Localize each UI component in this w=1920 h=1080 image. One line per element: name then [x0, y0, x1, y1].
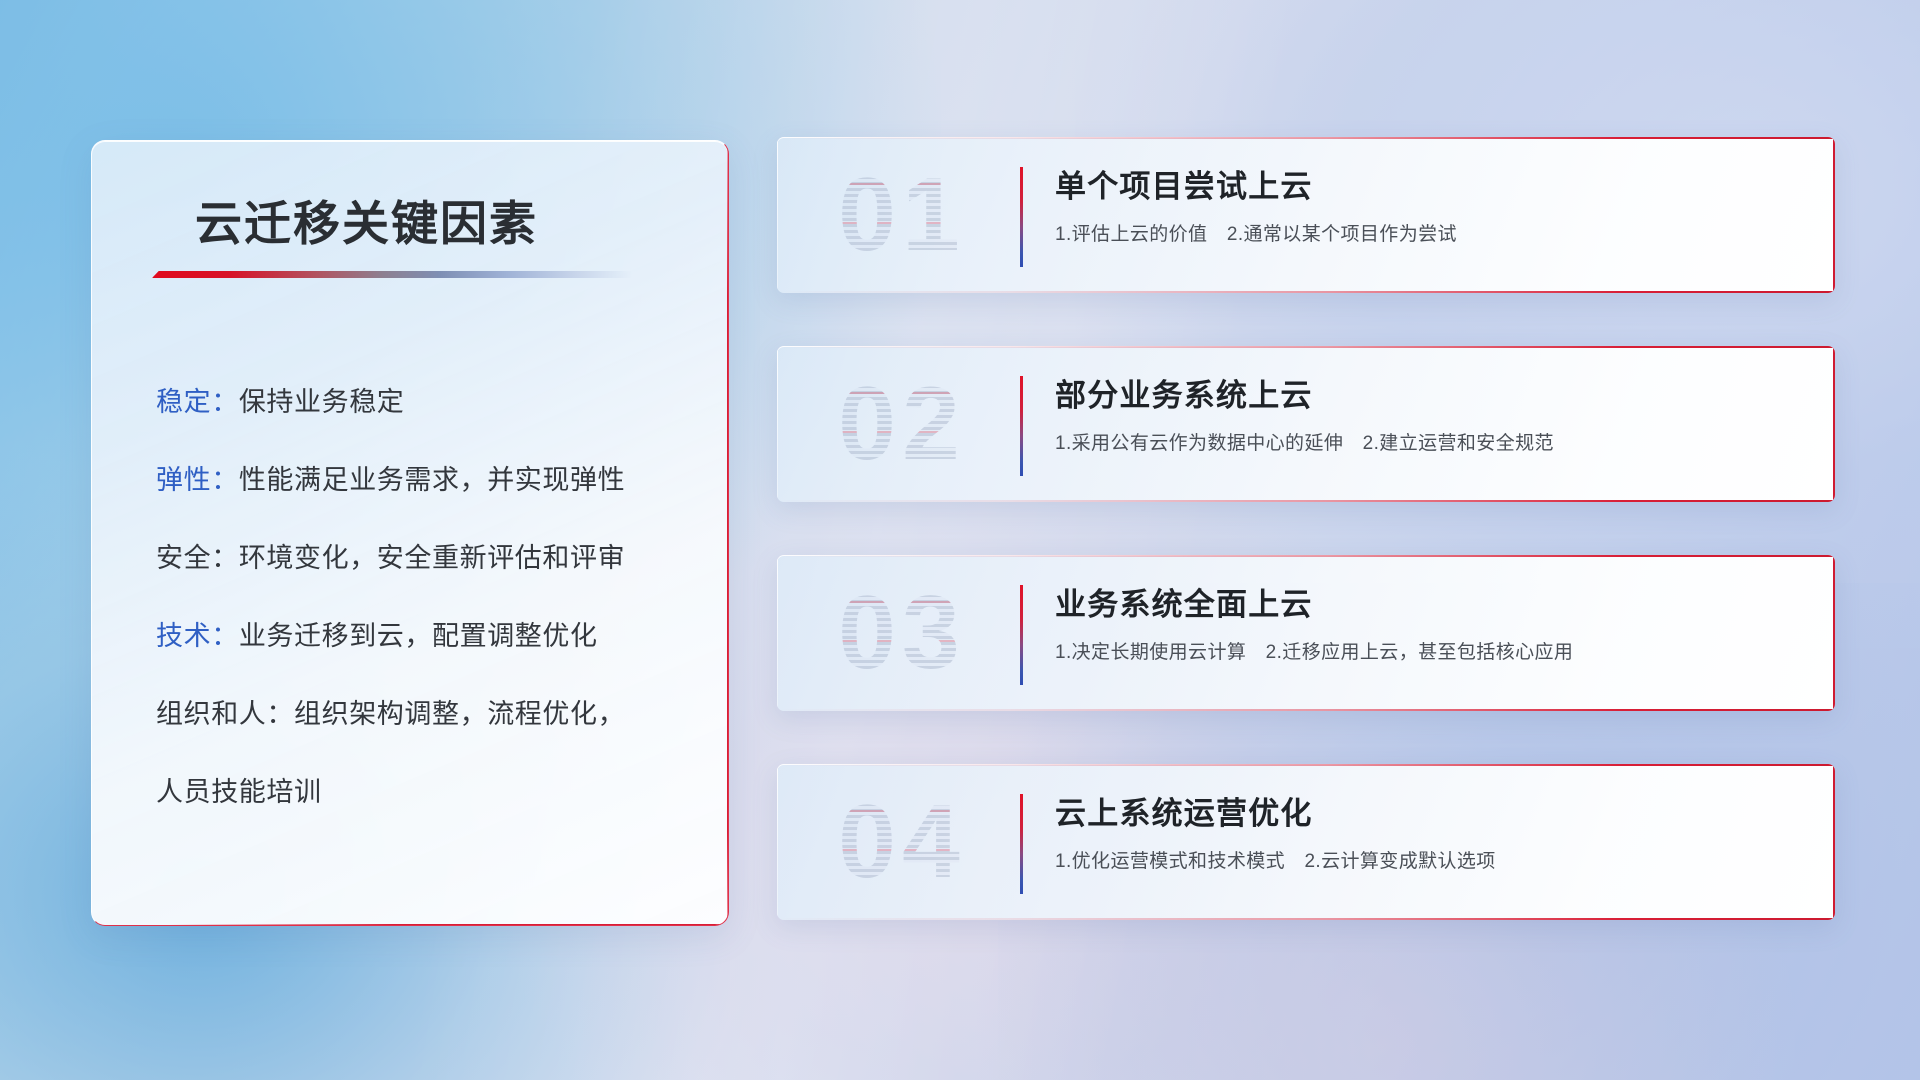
- card-divider-bar: [1020, 376, 1023, 476]
- card-body: 单个项目尝试上云1.评估上云的价值 2.通常以某个项目作为尝试: [1055, 165, 1795, 249]
- factor-row: 弹性：性能满足业务需求，并实现弹性: [156, 441, 688, 519]
- card-divider-bar: [1020, 794, 1023, 894]
- step-number-watermark-accent: 04: [807, 776, 997, 908]
- factor-row: 技术：业务迁移到云，配置调整优化: [156, 597, 688, 675]
- card-left-border: [777, 764, 778, 920]
- key-factors-panel: 云迁移关键因素 稳定：保持业务稳定弹性：性能满足业务需求，并实现弹性安全：环境变…: [91, 140, 729, 926]
- title-underline-accent: [152, 271, 632, 278]
- factor-text: 环境变化，安全重新评估和评审: [239, 543, 625, 573]
- card-bottom-accent-border: [777, 500, 1835, 502]
- card-right-accent-border: [1833, 764, 1835, 920]
- step-number-watermark-accent: 01: [807, 149, 997, 281]
- factor-list: 稳定：保持业务稳定弹性：性能满足业务需求，并实现弹性安全：环境变化，安全重新评估…: [156, 363, 688, 831]
- factor-row: 人员技能培训: [156, 753, 688, 831]
- card-left-border: [777, 137, 778, 293]
- slide-stage: 云迁移关键因素 稳定：保持业务稳定弹性：性能满足业务需求，并实现弹性安全：环境变…: [0, 0, 1920, 1080]
- step-number-watermark-accent: 02: [807, 358, 997, 490]
- card-right-accent-border: [1833, 346, 1835, 502]
- card-right-accent-border: [1833, 137, 1835, 293]
- card-right-accent-border: [1833, 555, 1835, 711]
- card-top-accent-border: [777, 555, 1835, 557]
- card-subtitle: 1.评估上云的价值 2.通常以某个项目作为尝试: [1055, 221, 1795, 249]
- card-subtitle: 1.采用公有云作为数据中心的延伸 2.建立运营和安全规范: [1055, 430, 1795, 458]
- factor-label: 技术：: [156, 621, 239, 651]
- factor-row: 稳定：保持业务稳定: [156, 363, 688, 441]
- card-subtitle: 1.优化运营模式和技术模式 2.云计算变成默认选项: [1055, 848, 1795, 876]
- step-card-04[interactable]: 0404云上系统运营优化1.优化运营模式和技术模式 2.云计算变成默认选项: [777, 764, 1835, 920]
- card-bottom-accent-border: [777, 709, 1835, 711]
- card-title: 部分业务系统上云: [1055, 374, 1795, 418]
- card-top-accent-border: [777, 764, 1835, 766]
- factor-text: 人员技能培训: [156, 777, 322, 807]
- card-bottom-accent-border: [777, 918, 1835, 920]
- migration-steps-list: 0101单个项目尝试上云1.评估上云的价值 2.通常以某个项目作为尝试0202部…: [777, 137, 1835, 920]
- card-title: 云上系统运营优化: [1055, 792, 1795, 836]
- factor-label: 安全：: [156, 543, 239, 573]
- card-top-accent-border: [777, 346, 1835, 348]
- card-subtitle: 1.决定长期使用云计算 2.迁移应用上云，甚至包括核心应用: [1055, 639, 1795, 667]
- factor-label: 弹性：: [156, 465, 239, 495]
- factor-text: 组织架构调整，流程优化，: [294, 699, 625, 729]
- factor-label: 组织和人：: [156, 699, 294, 729]
- card-top-accent-border: [777, 137, 1835, 139]
- card-title: 业务系统全面上云: [1055, 583, 1795, 627]
- factor-text: 保持业务稳定: [239, 387, 405, 417]
- card-left-border: [777, 346, 778, 502]
- card-divider-bar: [1020, 167, 1023, 267]
- card-body: 云上系统运营优化1.优化运营模式和技术模式 2.云计算变成默认选项: [1055, 792, 1795, 876]
- factor-text: 性能满足业务需求，并实现弹性: [239, 465, 625, 495]
- page-title: 云迁移关键因素: [195, 185, 538, 254]
- step-card-02[interactable]: 0202部分业务系统上云1.采用公有云作为数据中心的延伸 2.建立运营和安全规范: [777, 346, 1835, 502]
- card-title: 单个项目尝试上云: [1055, 165, 1795, 209]
- card-body: 部分业务系统上云1.采用公有云作为数据中心的延伸 2.建立运营和安全规范: [1055, 374, 1795, 458]
- card-divider-bar: [1020, 585, 1023, 685]
- step-card-03[interactable]: 0303业务系统全面上云1.决定长期使用云计算 2.迁移应用上云，甚至包括核心应…: [777, 555, 1835, 711]
- step-card-01[interactable]: 0101单个项目尝试上云1.评估上云的价值 2.通常以某个项目作为尝试: [777, 137, 1835, 293]
- step-number-watermark-accent: 03: [807, 567, 997, 699]
- card-bottom-accent-border: [777, 291, 1835, 293]
- factor-row: 组织和人：组织架构调整，流程优化，: [156, 675, 688, 753]
- card-left-border: [777, 555, 778, 711]
- factor-label: 稳定：: [156, 387, 239, 417]
- factor-text: 业务迁移到云，配置调整优化: [239, 621, 598, 651]
- card-body: 业务系统全面上云1.决定长期使用云计算 2.迁移应用上云，甚至包括核心应用: [1055, 583, 1795, 667]
- factor-row: 安全：环境变化，安全重新评估和评审: [156, 519, 688, 597]
